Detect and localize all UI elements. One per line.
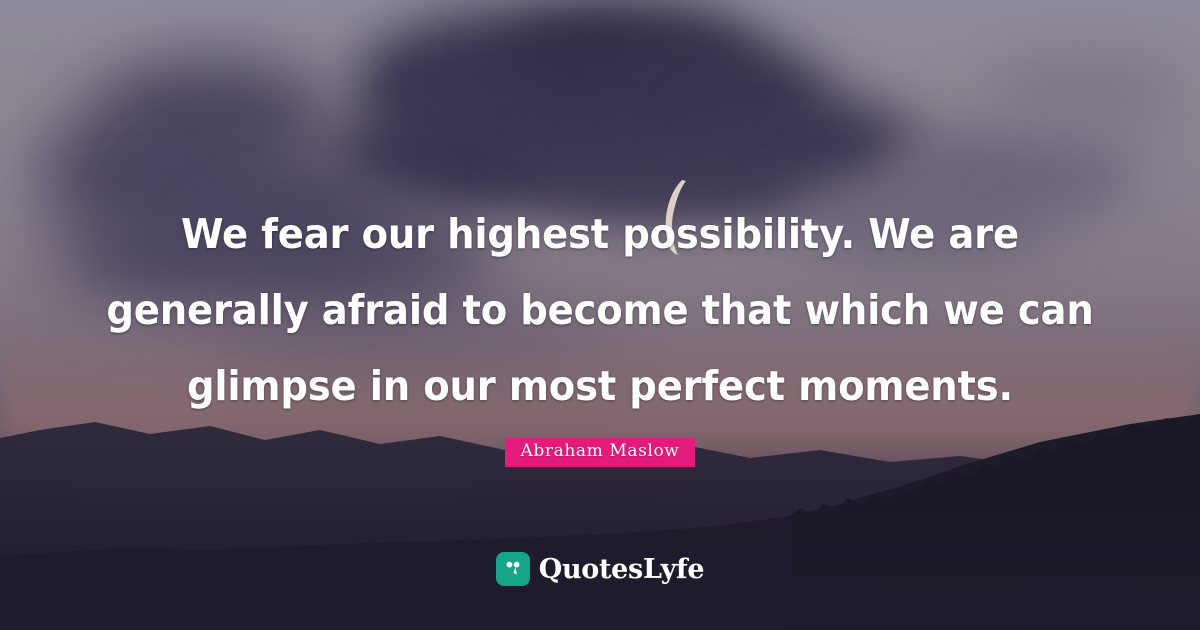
quote-line-1: We fear our highest possibility. We are <box>92 196 1107 272</box>
brand-name: QuotesLyfe <box>539 556 705 583</box>
quote-card: We fear our highest possibility. We are … <box>0 0 1200 630</box>
footer-vignette <box>0 470 1200 630</box>
quote-mark-icon <box>496 552 530 586</box>
quote-line-2: generally afraid to become that which we… <box>92 272 1107 348</box>
cloud-shape <box>985 55 1185 135</box>
quote-line-3: glimpse in our most perfect moments. <box>92 348 1107 424</box>
quote-text: We fear our highest possibility. We are … <box>0 196 1200 424</box>
brand-logo[interactable]: QuotesLyfe <box>0 552 1200 586</box>
author-badge[interactable]: Abraham Maslow <box>505 438 696 467</box>
author-row: Abraham Maslow <box>0 438 1200 467</box>
